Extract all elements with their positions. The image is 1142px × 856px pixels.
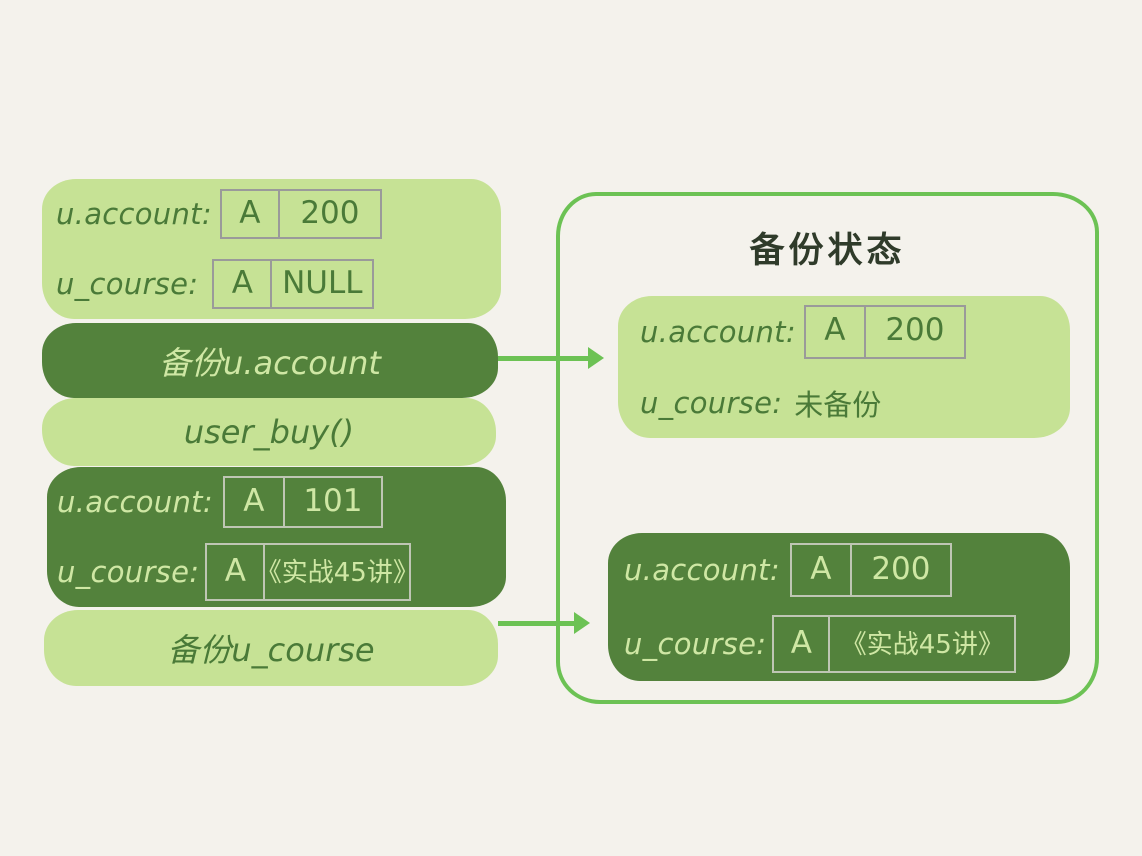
row-label: u.account: bbox=[56, 197, 212, 231]
row-label: u.account: bbox=[57, 485, 213, 519]
row-cells: A 200 bbox=[220, 189, 382, 239]
block-backup-state-partial: u.account: A 200 u_course: 未备份 bbox=[618, 296, 1070, 438]
row-label: u_course: bbox=[624, 627, 766, 661]
cell-value: 《实战45讲》 bbox=[263, 543, 411, 601]
row-label: u.account: bbox=[640, 315, 796, 349]
cell-value: 200 bbox=[278, 189, 382, 239]
block-after-buy-state: u.account: A 101 u_course: A 《实战45讲》 bbox=[47, 467, 506, 607]
cell-value: 200 bbox=[864, 305, 966, 359]
row-label: u.account: bbox=[624, 553, 780, 587]
cell-key: A bbox=[790, 543, 852, 597]
block-user-buy: user_buy() bbox=[42, 398, 496, 466]
row-u-course: u_course: A 《实战45讲》 bbox=[624, 607, 1054, 681]
cell-key: A bbox=[223, 476, 285, 528]
row-u-course: u_course: 未备份 bbox=[640, 367, 1048, 438]
block-backup-course: 备份u_course bbox=[44, 610, 498, 686]
row-u-account: u.account: A 200 bbox=[624, 533, 1054, 607]
cell-key: A bbox=[772, 615, 830, 673]
cell-value: NULL bbox=[270, 259, 374, 309]
row-cells: A 《实战45讲》 bbox=[772, 615, 1016, 673]
block-label: 备份u.account bbox=[42, 338, 498, 384]
row-u-account: u.account: A 200 bbox=[640, 296, 1048, 367]
cell-value: 200 bbox=[850, 543, 952, 597]
cell-value: 《实战45讲》 bbox=[828, 615, 1016, 673]
row-label: u_course: bbox=[640, 386, 782, 420]
cell-key: A bbox=[804, 305, 866, 359]
cell-key: A bbox=[212, 259, 272, 309]
row-value-text: 未备份 bbox=[794, 382, 881, 424]
row-u-course: u_course: A NULL bbox=[56, 249, 487, 319]
row-cells: A 101 bbox=[223, 476, 383, 528]
cell-key: A bbox=[220, 189, 280, 239]
diagram-canvas: u.account: A 200 u_course: A NULL 备份u.ac… bbox=[0, 0, 1142, 856]
row-cells: A 200 bbox=[790, 543, 952, 597]
block-label: user_buy() bbox=[42, 413, 496, 451]
block-label: 备份u_course bbox=[44, 625, 498, 671]
row-label: u_course: bbox=[57, 555, 199, 589]
row-cells: A NULL bbox=[212, 259, 374, 309]
row-u-course: u_course: A 《实战45讲》 bbox=[57, 537, 496, 607]
row-label: u_course: bbox=[56, 267, 198, 301]
block-backup-account: 备份u.account bbox=[42, 323, 498, 398]
block-initial-state: u.account: A 200 u_course: A NULL bbox=[42, 179, 501, 319]
row-u-account: u.account: A 101 bbox=[57, 467, 496, 537]
block-backup-state-full: u.account: A 200 u_course: A 《实战45讲》 bbox=[608, 533, 1070, 681]
panel-title: 备份状态 bbox=[556, 222, 1099, 273]
row-u-account: u.account: A 200 bbox=[56, 179, 487, 249]
cell-value: 101 bbox=[283, 476, 383, 528]
row-cells: A 200 bbox=[804, 305, 966, 359]
row-cells: A 《实战45讲》 bbox=[205, 543, 411, 601]
